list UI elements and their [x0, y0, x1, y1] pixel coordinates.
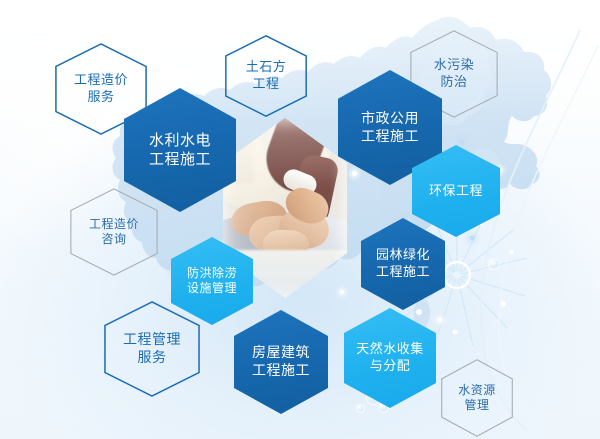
hexagon-label-line: 工程造价: [89, 217, 139, 232]
hexagon-label-group: 房屋建筑工程施工: [252, 344, 310, 380]
hexagon-label-line: 工程施工: [376, 264, 430, 281]
hexagon-label-group: 工程造价咨询: [89, 217, 139, 248]
hexagon-label-group: 工程造价服务: [74, 72, 128, 105]
hexagon-label-line: 天然水收集: [356, 341, 424, 358]
hexagon-label-group: 市政公用工程施工: [361, 110, 419, 146]
hexagon-label-line: 工程施工: [149, 150, 211, 169]
hexagon-label-line: 房屋建筑: [252, 344, 310, 362]
hexagon-label-group: 环保工程: [429, 183, 483, 200]
hexagon-label-line: 防治: [440, 74, 467, 91]
hexagon-label-line: 与分配: [370, 358, 411, 375]
hexagon-label-line: 防洪除涝: [187, 266, 237, 281]
hexagon-label-group: 土石方工程: [246, 59, 287, 92]
infographic-canvas: 工程造价服务土石方工程水污染防治水利水电工程施工市政公用工程施工环保工程工程造价…: [0, 0, 600, 439]
hexagon-label-line: 园林绿化: [376, 247, 430, 264]
hexagon-label-group: 水利水电工程施工: [149, 131, 211, 169]
hexagon-label-line: 水利水电: [149, 131, 211, 150]
hexagon-label-line: 水污染: [434, 57, 475, 74]
hexagon-label-line: 咨询: [101, 232, 126, 247]
hexagon-label-line: 工程施工: [252, 362, 310, 380]
hexagon-engineering-management-service[interactable]: 工程管理服务: [104, 301, 200, 397]
sparkle-dot: [438, 318, 442, 322]
hexagon-label-line: 工程施工: [361, 128, 419, 146]
hexagon-label-line: 水资源: [458, 383, 496, 398]
hexagon-earthwork-engineering[interactable]: 土石方工程: [225, 35, 307, 117]
hexagon-label-line: 服务: [87, 89, 114, 106]
hexagon-label-group: 天然水收集与分配: [356, 341, 424, 374]
hexagon-label-line: 工程: [252, 76, 279, 93]
sparkle-dot: [352, 171, 357, 176]
hexagon-label-line: 管理: [464, 398, 489, 413]
hexagon-water-resource-management[interactable]: 水资源管理: [441, 359, 513, 437]
hexagon-label-line: 环保工程: [429, 183, 483, 200]
hexagon-label-line: 工程造价: [74, 72, 128, 89]
sparkle-dot: [340, 290, 344, 294]
bubble-decoration: [356, 404, 365, 413]
sparkle-dot: [460, 140, 463, 143]
hexagon-label-group: 园林绿化工程施工: [376, 247, 430, 280]
sparkle-dot: [470, 236, 474, 240]
hexagon-label-line: 服务: [138, 349, 167, 367]
hexagon-label-group: 水污染防治: [434, 57, 475, 90]
hexagon-label-line: 市政公用: [361, 110, 419, 128]
hexagon-label-line: 工程管理: [123, 331, 181, 349]
hexagon-label-group: 防洪除涝设施管理: [187, 266, 237, 297]
bubble-decoration: [488, 258, 500, 270]
hexagon-label-group: 工程管理服务: [123, 331, 181, 367]
hexagon-engineering-cost-consulting[interactable]: 工程造价咨询: [70, 188, 158, 276]
hexagon-label-group: 水资源管理: [458, 383, 496, 414]
hexagon-label-line: 设施管理: [187, 281, 237, 296]
hexagon-label-line: 土石方: [246, 59, 287, 76]
